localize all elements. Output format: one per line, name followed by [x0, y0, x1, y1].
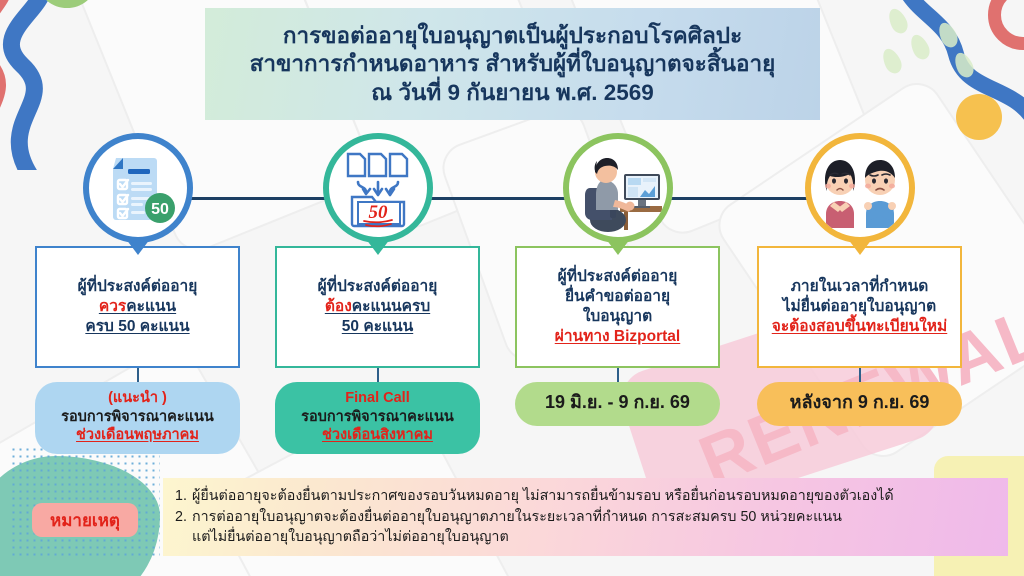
step-1-pill: (แนะนำ ) รอบการพิจารณาคะแนน ช่วงเดือนพฤษ… — [35, 382, 240, 454]
note-2-number: 2. — [175, 507, 192, 528]
infographic-canvas: RENEWAL การขอต่ออายุใบอนุญาตเป็นผู้ประกอ… — [0, 0, 1024, 576]
step-3-line-1: ผู้ที่ประสงค์ต่ออายุ — [558, 267, 678, 287]
notes-box: 1. ผู้ยื่นต่ออายุจะต้องยื่นตามประกาศของร… — [163, 478, 1008, 556]
note-1-text: ผู้ยื่นต่ออายุจะต้องยื่นตามประกาศของรอบว… — [192, 486, 894, 507]
step-4-card: ภายในเวลาที่กำหนด ไม่ยื่นต่ออายุใบอนุญาต… — [757, 246, 962, 368]
step-1-icon-circle: 50 — [83, 133, 193, 243]
step-1-line-3: ครบ 50 คะแนน — [85, 317, 189, 337]
step-column-3: ผู้ที่ประสงค์ต่ออายุ ยื่นคำขอต่ออายุ ใบอ… — [510, 133, 725, 426]
note-item-1: 1. ผู้ยื่นต่ออายุจะต้องยื่นตามประกาศของร… — [175, 486, 998, 507]
page-title: การขอต่ออายุใบอนุญาตเป็นผู้ประกอบโรคศิลป… — [205, 8, 820, 120]
svg-text:50: 50 — [151, 201, 169, 218]
step-1-pill-line-3: ช่วงเดือนพฤษภาคม — [76, 426, 199, 445]
step-4-pill: หลังจาก 9 ก.ย. 69 — [757, 382, 962, 426]
svg-text:50: 50 — [368, 202, 388, 223]
step-2-stem — [377, 368, 379, 382]
step-1-pill-line-1: (แนะนำ ) — [108, 389, 167, 408]
step-1-line-2-rest: คะแนน — [126, 298, 176, 315]
note-2-continuation: แต่ไม่ยื่นต่ออายุใบอนุญาตถือว่าไม่ต่ออาย… — [175, 527, 998, 548]
step-2-icon-circle: 50 — [323, 133, 433, 243]
step-column-2: 50 ผู้ที่ประสงค์ต่ออายุ ต้องคะแนนครบ 50 … — [270, 133, 485, 454]
title-line-3: ณ วันที่ 9 กันยายน พ.ศ. 2569 — [371, 79, 654, 106]
step-4-line-1: ภายในเวลาที่กำหนด — [791, 277, 929, 297]
note-2-text: การต่ออายุใบอนุญาตจะต้องยื่นต่ออายุใบอนุ… — [192, 507, 842, 528]
step-4-stem — [859, 368, 861, 382]
step-2-line-2-red: ต้อง — [325, 298, 352, 315]
title-line-2: สาขาการกำหนดอาหาร สำหรับผู้ที่ใบอนุญาตจะ… — [250, 50, 776, 77]
step-column-1: 50 ผู้ที่ประสงค์ต่ออายุ ควรคะแนน ครบ 50 … — [30, 133, 245, 454]
step-2-line-2-rest: คะแนนครบ — [352, 298, 430, 315]
step-4-icon-circle — [805, 133, 915, 243]
person-at-computer-icon — [574, 144, 662, 232]
step-1-card: ผู้ที่ประสงค์ต่ออายุ ควรคะแนน ครบ 50 คะแ… — [35, 246, 240, 368]
documents-to-folder-50-icon: 50 — [334, 144, 422, 232]
step-2-line-1: ผู้ที่ประสงค์ต่ออายุ — [318, 277, 438, 297]
step-4-pill-line-1: หลังจาก 9 ก.ย. 69 — [790, 391, 930, 414]
step-2-pill-line-1: Final Call — [345, 389, 409, 408]
step-1-line-2: ควรคะแนน — [99, 297, 176, 317]
step-3-pill: 19 มิ.ย. - 9 ก.ย. 69 — [515, 382, 720, 426]
note-2-cont-text: แต่ไม่ยื่นต่ออายุใบอนุญาตถือว่าไม่ต่ออาย… — [192, 527, 509, 548]
step-2-line-3: 50 คะแนน — [342, 317, 413, 337]
checklist-document-50-icon: 50 — [94, 144, 182, 232]
step-1-line-2-red: ควร — [99, 298, 126, 315]
notes-badge: หมายเหตุ — [32, 503, 138, 537]
step-1-line-1: ผู้ที่ประสงค์ต่ออายุ — [78, 277, 198, 297]
step-column-4: ภายในเวลาที่กำหนด ไม่ยื่นต่ออายุใบอนุญาต… — [752, 133, 967, 426]
step-4-line-2: ไม่ยื่นต่ออายุใบอนุญาต — [783, 297, 936, 317]
notes-badge-label: หมายเหตุ — [50, 507, 120, 534]
step-3-line-3: ใบอนุญาต — [583, 307, 652, 327]
step-2-pill-line-3: ช่วงเดือนสิงหาคม — [322, 426, 433, 445]
note-1-number: 1. — [175, 486, 192, 507]
step-4-line-3: จะต้องสอบขึ้นทะเบียนใหม่ — [772, 317, 948, 337]
step-3-line-2: ยื่นคำขอต่ออายุ — [565, 287, 670, 307]
step-1-pill-line-2: รอบการพิจารณาคะแนน — [61, 408, 214, 427]
step-2-card: ผู้ที่ประสงค์ต่ออายุ ต้องคะแนนครบ 50 คะแ… — [275, 246, 480, 368]
step-3-card: ผู้ที่ประสงค์ต่ออายุ ยื่นคำขอต่ออายุ ใบอ… — [515, 246, 720, 368]
bg-dot-grid — [10, 446, 160, 556]
step-2-pill: Final Call รอบการพิจารณาคะแนน ช่วงเดือนส… — [275, 382, 480, 454]
step-3-icon-circle — [563, 133, 673, 243]
step-2-line-2: ต้องคะแนนครบ — [325, 297, 430, 317]
step-2-pill-line-2: รอบการพิจารณาคะแนน — [301, 408, 454, 427]
step-3-stem — [617, 368, 619, 382]
two-people-crossed-arms-icon — [816, 144, 904, 232]
step-3-pill-line-1: 19 มิ.ย. - 9 ก.ย. 69 — [545, 391, 690, 414]
step-3-line-4: ผ่านทาง Bizportal — [555, 327, 680, 347]
step-1-stem — [137, 368, 139, 382]
title-line-1: การขอต่ออายุใบอนุญาตเป็นผู้ประกอบโรคศิลป… — [283, 22, 742, 49]
note-item-2: 2. การต่ออายุใบอนุญาตจะต้องยื่นต่ออายุใบ… — [175, 507, 998, 528]
